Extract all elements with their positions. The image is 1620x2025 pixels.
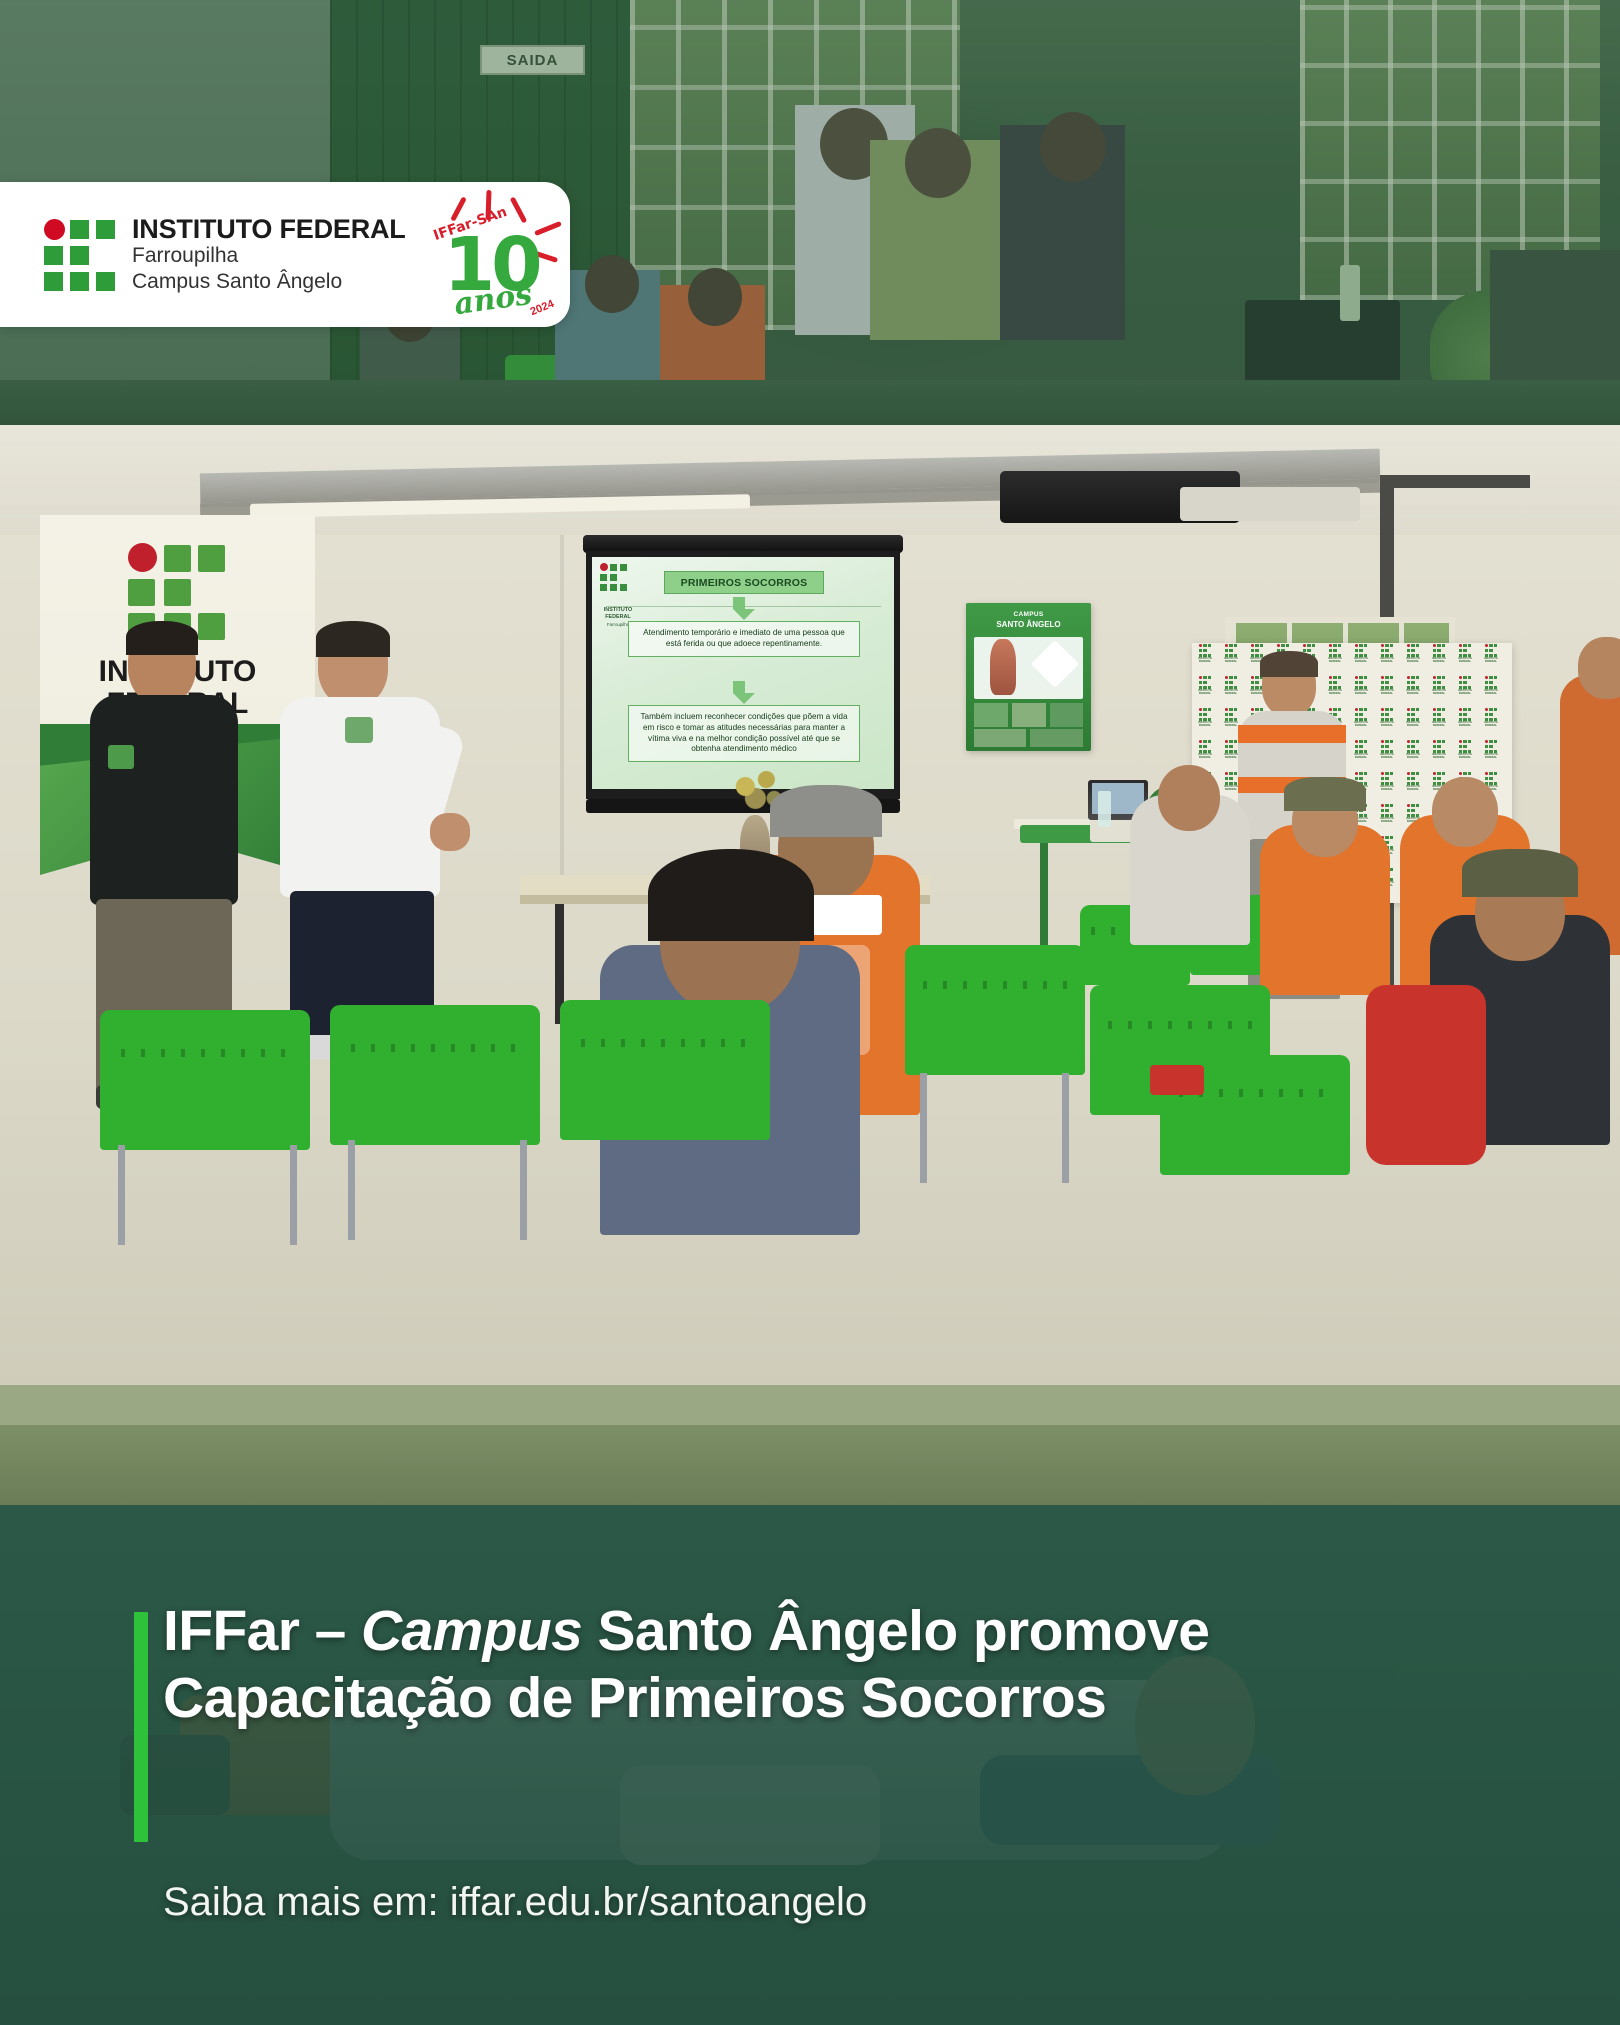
logo-card: INSTITUTO FEDERAL Farroupilha Campus San… xyxy=(0,182,570,327)
backdrop-logo-icon: INSTITUTO FEDERAL xyxy=(1374,771,1400,801)
seated-head-1 xyxy=(1158,765,1220,831)
phone-on-chair xyxy=(1150,1065,1204,1095)
slide-box-1: Atendimento temporário e imediato de uma… xyxy=(628,621,860,657)
backdrop-logo-icon: INSTITUTO FEDERAL xyxy=(1426,707,1452,737)
backdrop-logo-icon: INSTITUTO FEDERAL xyxy=(1322,675,1348,705)
floor xyxy=(0,1425,1620,1505)
desk-leg-left xyxy=(1040,843,1048,953)
seated-head-3 xyxy=(1432,777,1498,847)
backdrop-logo-icon: INSTITUTO FEDERAL xyxy=(1478,739,1504,769)
backdrop-logo-icon: INSTITUTO FEDERAL xyxy=(1374,643,1400,673)
chair-front-3 xyxy=(560,1000,770,1140)
logo-text-block: INSTITUTO FEDERAL Farroupilha Campus San… xyxy=(132,215,406,295)
backdrop-logo-icon: INSTITUTO FEDERAL xyxy=(1374,707,1400,737)
backdrop-logo-icon: INSTITUTO FEDERAL xyxy=(1400,771,1426,801)
backdrop-logo-icon: INSTITUTO FEDERAL xyxy=(1452,707,1478,737)
backdrop-logo-icon: INSTITUTO FEDERAL xyxy=(1192,643,1218,673)
poster-label-campus: CAMPUS xyxy=(966,611,1091,618)
chair-front-2 xyxy=(330,1005,540,1145)
backdrop-logo-icon: INSTITUTO FEDERAL xyxy=(1400,643,1426,673)
slide-box-2: Também incluem reconhecer condições que … xyxy=(628,705,860,762)
seated-red-hood xyxy=(1366,985,1486,1165)
headline: IFFar – Campus Santo Ângelo promove Capa… xyxy=(163,1598,1463,1733)
logo-subtitle-1: Farroupilha xyxy=(132,243,406,269)
water-bottle xyxy=(1098,791,1111,827)
backdrop-logo-icon: INSTITUTO FEDERAL xyxy=(1218,643,1244,673)
backdrop-logo-icon: INSTITUTO FEDERAL xyxy=(1400,675,1426,705)
backdrop-logo-icon: INSTITUTO FEDERAL xyxy=(1400,707,1426,737)
backdrop-logo-icon: INSTITUTO FEDERAL xyxy=(1322,643,1348,673)
poster-label-santo-angelo: SANTO ÂNGELO xyxy=(966,620,1091,629)
backdrop-logo-icon: INSTITUTO FEDERAL xyxy=(1452,739,1478,769)
floor-band xyxy=(0,1385,1620,1430)
poster-thumb-4 xyxy=(974,729,1026,747)
seated-hair-6 xyxy=(648,849,814,941)
logo-title: INSTITUTO FEDERAL xyxy=(132,215,406,243)
logo-subtitle-2: Campus Santo Ângelo xyxy=(132,269,406,295)
backdrop-logo-icon: INSTITUTO FEDERAL xyxy=(1400,739,1426,769)
seated-cap-4 xyxy=(1462,849,1578,897)
poster-root: SAIDA INSTITUTO FEDERAL Farroupilha xyxy=(0,0,1620,2025)
anniversary-badge-icon: IFFar-SAn 10 anos 2024 xyxy=(426,190,566,320)
wall-conduit-top xyxy=(1380,475,1530,488)
backdrop-logo-icon: INSTITUTO FEDERAL xyxy=(1374,803,1400,833)
slide-if-logo-icon xyxy=(600,563,634,603)
headline-line-2: Capacitação de Primeiros Socorros xyxy=(163,1666,1106,1730)
chair-mid-1 xyxy=(905,945,1085,1075)
footer-url: Saiba mais em: iffar.edu.br/santoangelo xyxy=(163,1880,1463,1925)
seated-hair-5 xyxy=(770,785,882,837)
slide-logo-text-2: FEDERAL xyxy=(596,614,640,620)
bottom-green-tint xyxy=(0,1505,1620,2025)
backdrop-logo-icon: INSTITUTO FEDERAL xyxy=(1348,675,1374,705)
backdrop-logo-icon: INSTITUTO FEDERAL xyxy=(1348,643,1374,673)
poster-thumb-1 xyxy=(974,703,1008,727)
headline-prefix: IFFar – xyxy=(163,1599,361,1663)
chair-front-2-leg-l xyxy=(348,1140,355,1240)
poster-thumb-3 xyxy=(1050,703,1083,727)
chair-mid-1-leg-l xyxy=(920,1073,927,1183)
backdrop-logo-icon: INSTITUTO FEDERAL xyxy=(1478,643,1504,673)
backdrop-logo-icon: INSTITUTO FEDERAL xyxy=(1192,707,1218,737)
backdrop-logo-icon: INSTITUTO FEDERAL xyxy=(1374,675,1400,705)
seated-cap-2 xyxy=(1284,777,1366,811)
backdrop-logo-icon: INSTITUTO FEDERAL xyxy=(1192,739,1218,769)
poster-thumb-5 xyxy=(1030,729,1083,747)
ceiling-panel xyxy=(1180,487,1360,521)
backdrop-logo-icon: INSTITUTO FEDERAL xyxy=(1348,707,1374,737)
backdrop-logo-icon: INSTITUTO FEDERAL xyxy=(1218,675,1244,705)
backdrop-logo-icon: INSTITUTO FEDERAL xyxy=(1192,675,1218,705)
poster-thumb-2 xyxy=(1012,703,1046,727)
poster-anatomy-figure xyxy=(990,639,1016,695)
chair-front-2-leg-r xyxy=(520,1140,527,1240)
chair-mid-1-leg-r xyxy=(1062,1073,1069,1183)
campus-poster: CAMPUS SANTO ÂNGELO xyxy=(966,603,1091,751)
backdrop-logo-icon: INSTITUTO FEDERAL xyxy=(1478,707,1504,737)
backdrop-logo-icon: INSTITUTO FEDERAL xyxy=(1374,739,1400,769)
backdrop-logo-icon: INSTITUTO FEDERAL xyxy=(1426,675,1452,705)
headline-suffix: Santo Ângelo promove xyxy=(582,1599,1209,1663)
backdrop-logo-icon: INSTITUTO FEDERAL xyxy=(1426,739,1452,769)
backdrop-logo-icon: INSTITUTO FEDERAL xyxy=(1426,643,1452,673)
chair-front-1-leg-r xyxy=(290,1145,297,1245)
backdrop-logo-icon: INSTITUTO FEDERAL xyxy=(1348,739,1374,769)
chair-front-1-leg-l xyxy=(118,1145,125,1245)
headline-italic-campus: Campus xyxy=(361,1599,582,1663)
slide-logo-text-1: INSTITUTO xyxy=(596,607,640,613)
backdrop-logo-icon: INSTITUTO FEDERAL xyxy=(1452,643,1478,673)
chair-front-1 xyxy=(100,1010,310,1150)
backdrop-logo-icon: INSTITUTO FEDERAL xyxy=(1452,675,1478,705)
if-grid-logo-icon xyxy=(44,219,116,291)
backdrop-logo-icon: INSTITUTO FEDERAL xyxy=(1478,675,1504,705)
main-photo: INSTITUTO FEDERAL Farroupilha INSTITUTO … xyxy=(0,425,1620,1505)
bottom-caption-band xyxy=(0,1505,1620,2025)
slide-title: PRIMEIROS SOCORROS xyxy=(664,571,824,594)
title-accent-bar xyxy=(134,1612,148,1842)
